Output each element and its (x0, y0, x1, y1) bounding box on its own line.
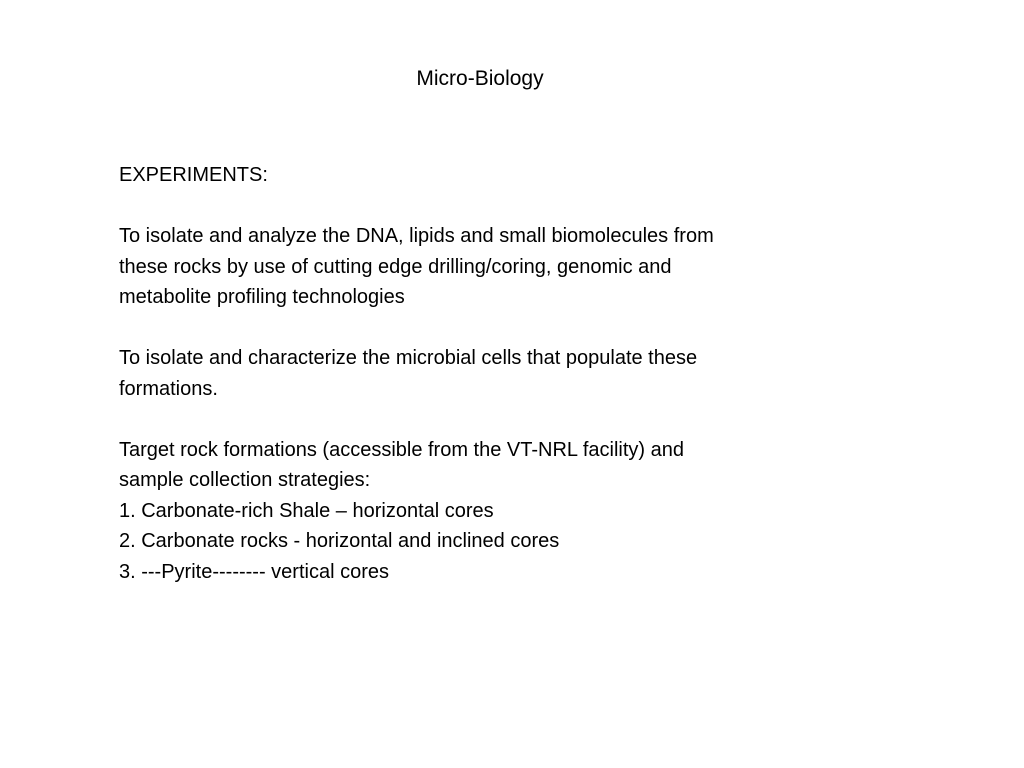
slide-title: Micro-Biology (0, 64, 960, 94)
paragraph-2-line-1: To isolate and characterize the microbia… (119, 343, 919, 374)
paragraph-1-line-2: these rocks by use of cutting edge drill… (119, 252, 919, 283)
paragraph-isolate-characterize: To isolate and characterize the microbia… (119, 343, 919, 404)
list-item-2: 2. Carbonate rocks - horizontal and incl… (119, 526, 919, 557)
paragraph-1-line-1: To isolate and analyze the DNA, lipids a… (119, 221, 919, 252)
spacer-line (119, 313, 919, 344)
paragraph-3-line-1: Target rock formations (accessible from … (119, 435, 919, 466)
spacer-line (119, 191, 919, 222)
sample-strategy-list: 1. Carbonate-rich Shale – horizontal cor… (119, 496, 919, 588)
paragraph-isolate-analyze: To isolate and analyze the DNA, lipids a… (119, 221, 919, 313)
experiments-heading-block: EXPERIMENTS: (119, 160, 919, 191)
list-item-1: 1. Carbonate-rich Shale – horizontal cor… (119, 496, 919, 527)
paragraph-3-line-2: sample collection strategies: (119, 465, 919, 496)
presentation-slide: Micro-Biology EXPERIMENTS: To isolate an… (0, 0, 1024, 768)
paragraph-1-line-3: metabolite profiling technologies (119, 282, 919, 313)
slide-body-text: EXPERIMENTS: To isolate and analyze the … (119, 160, 919, 587)
paragraph-target-formations: Target rock formations (accessible from … (119, 435, 919, 496)
list-item-3: 3. ---Pyrite-------- vertical cores (119, 557, 919, 588)
experiments-heading: EXPERIMENTS: (119, 160, 919, 191)
spacer-line (119, 404, 919, 435)
paragraph-2-line-2: formations. (119, 374, 919, 405)
